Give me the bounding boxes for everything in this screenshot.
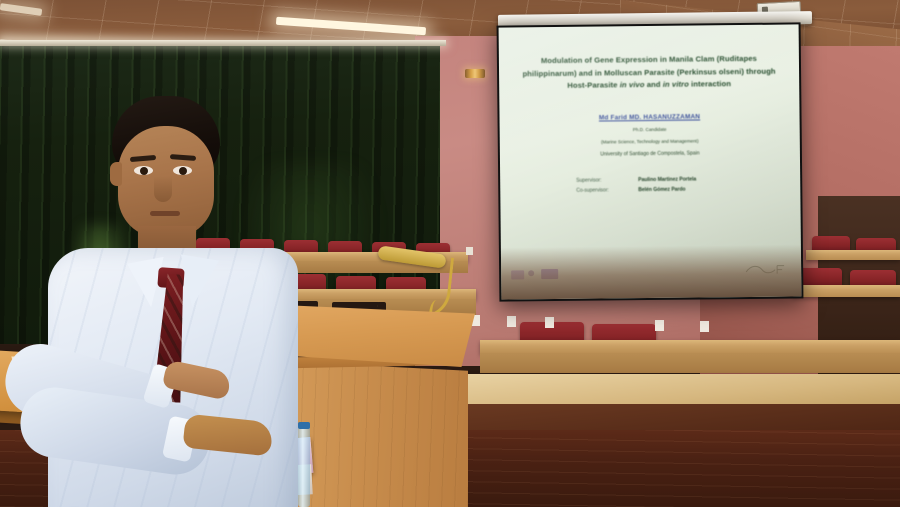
slide-presenter-name: Md Farid MD. HASANUZZAMAN	[500, 112, 800, 122]
desk-row-2-right	[480, 340, 900, 354]
desk-front-row-2	[480, 353, 900, 373]
slide-programme: (Marine Science, Technology and Manageme…	[500, 136, 800, 146]
supervisor-name: Paulino Martinez Portela	[638, 176, 724, 183]
supervisor-row: Supervisor: Paulino Martinez Portela	[500, 175, 800, 184]
desk-marker	[700, 321, 709, 332]
slide-university: University of Santiago de Compostela, Sp…	[500, 149, 800, 158]
slide-title-line-3b: and	[645, 80, 663, 89]
mouth	[150, 211, 180, 216]
presentation-slide: Modulation of Gene Expression in Manila …	[499, 52, 800, 198]
desk-marker	[507, 316, 516, 327]
slide-title-line-3c: interaction	[689, 79, 731, 88]
slide-title-line-2: philippinarum) and in Molluscan Parasite…	[522, 66, 775, 78]
podium-wood-grain	[290, 362, 468, 507]
projection-screen-frame: Modulation of Gene Expression in Manila …	[497, 22, 804, 301]
slide-presenter-role: Ph.D. Candidate	[500, 124, 800, 134]
supervisor-label: Supervisor:	[576, 177, 628, 184]
front-desk-right	[452, 374, 900, 408]
water-bottle-cap	[298, 422, 310, 429]
desk-row-4-right	[806, 250, 900, 260]
pupil-left	[140, 167, 148, 175]
curtain-rail	[0, 40, 446, 46]
slide-title-italic-invitro: in vitro	[663, 80, 689, 89]
lecture-hall-photo: Modulation of Gene Expression in Manila …	[0, 0, 900, 507]
wall-light-fixture	[465, 69, 485, 78]
seat	[798, 268, 842, 286]
slide-title-italic-invivo: in vivo	[620, 80, 645, 89]
cosupervisor-name: Belén Gómez Pardo	[638, 186, 724, 193]
ear	[110, 162, 122, 186]
projection-screen: Modulation of Gene Expression in Manila …	[499, 24, 802, 299]
presenter	[40, 96, 290, 507]
desk-marker	[545, 317, 554, 328]
cosupervisor-label: Co-supervisor:	[576, 187, 628, 194]
nose	[154, 176, 172, 202]
desk-marker	[466, 247, 473, 255]
slide-title: Modulation of Gene Expression in Manila …	[499, 52, 799, 93]
podium-body	[290, 362, 468, 507]
cosupervisor-row: Co-supervisor: Belén Gómez Pardo	[500, 185, 800, 194]
slide-title-line-3a: Host-Parasite	[567, 80, 620, 90]
desk-row-3-right	[792, 285, 900, 297]
screen-bottom-shadow	[501, 244, 802, 299]
pupil-right	[179, 167, 187, 175]
slide-title-line-1: Modulation of Gene Expression in Manila …	[541, 54, 757, 65]
slide-supervisors: Supervisor: Paulino Martinez Portela Co-…	[500, 175, 800, 194]
desk-marker	[655, 320, 664, 331]
water-bottle	[298, 424, 310, 507]
